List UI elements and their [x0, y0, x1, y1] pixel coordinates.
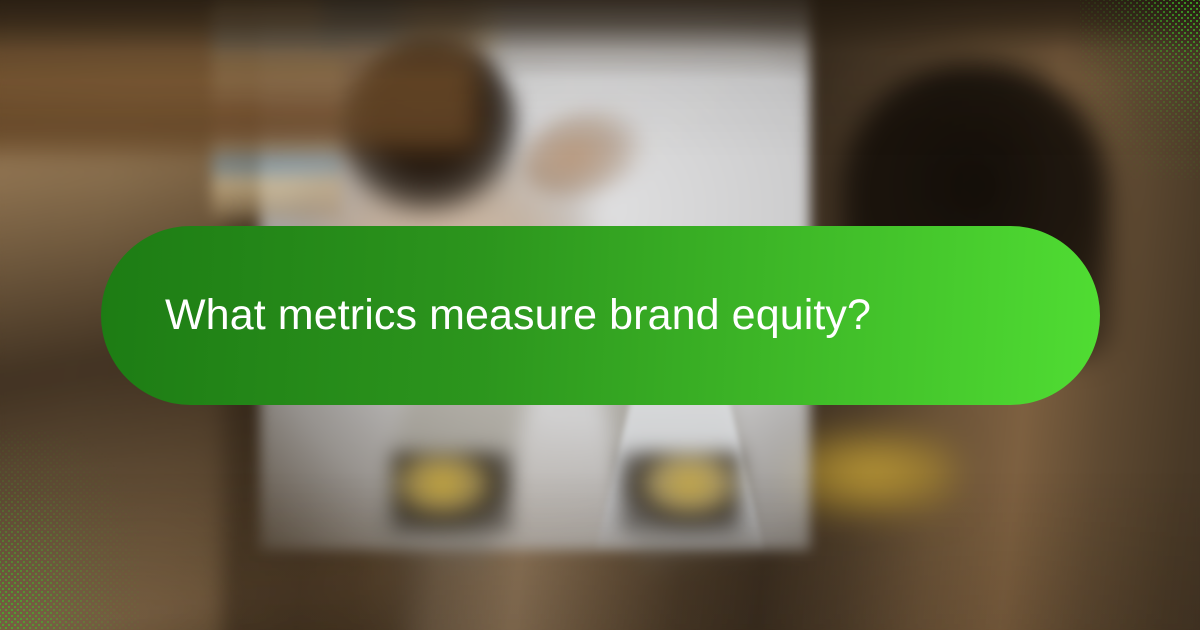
headline-text: What metrics measure brand equity?	[165, 291, 871, 340]
headline-pill: What metrics measure brand equity?	[101, 226, 1100, 405]
social-card: What metrics measure brand equity?	[0, 0, 1200, 630]
